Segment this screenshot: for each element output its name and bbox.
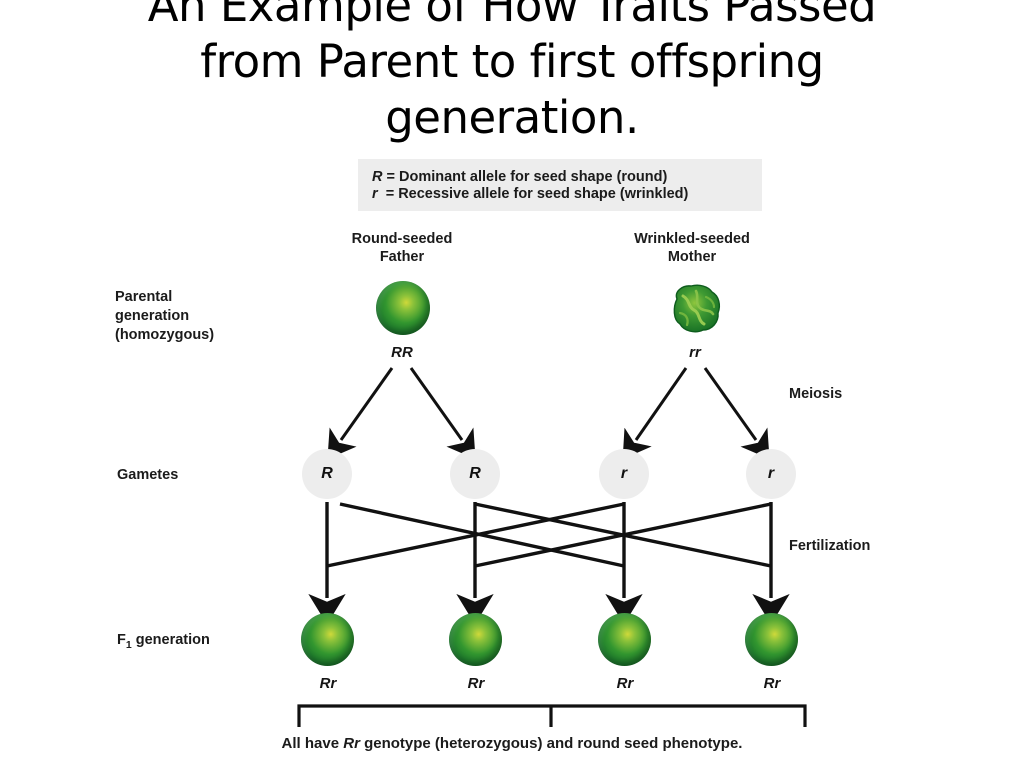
gamete-label-1: R (302, 449, 352, 499)
f1-letter: F (117, 632, 126, 648)
round-seed-offspring-2 (449, 613, 502, 666)
wrinkled-seed-mother (668, 283, 724, 335)
row-label-gametes: Gametes (117, 466, 178, 485)
summary-prefix: All have (282, 735, 344, 752)
row-label-parental-generation: Parental generation (homozygous) (115, 288, 214, 345)
legend-symbol-R: R (372, 169, 382, 185)
gamete-label-4: r (746, 449, 796, 499)
round-seed-offspring-4 (745, 613, 798, 666)
legend-line-recessive: r = Recessive allele for seed shape (wri… (372, 186, 688, 203)
genotype-offspring-3: Rr (590, 675, 660, 692)
genetics-cross-diagram: R = Dominant allele for seed shape (roun… (0, 0, 1024, 768)
side-label-fertilization: Fertilization (789, 538, 870, 554)
genotype-offspring-4: Rr (737, 675, 807, 692)
meiosis-arrow-mother-right (705, 368, 756, 440)
meiosis-arrow-father-right (411, 368, 462, 440)
allele-legend: R = Dominant allele for seed shape (roun… (358, 159, 762, 211)
summary-bracket (299, 706, 805, 727)
summary-suffix: genotype (heterozygous) and round seed p… (360, 735, 743, 752)
legend-text-dominant: = Dominant allele for seed shape (round) (382, 169, 667, 185)
gamete-label-2: R (450, 449, 500, 499)
round-seed-offspring-3 (598, 613, 651, 666)
parent-caption-father: Round-seeded Father (312, 230, 492, 266)
legend-line-dominant: R = Dominant allele for seed shape (roun… (372, 169, 667, 186)
side-label-meiosis: Meiosis (789, 386, 842, 402)
row-label-f1-generation: F1 generation (117, 631, 210, 655)
parent-caption-mother: Wrinkled-seeded Mother (602, 230, 782, 266)
round-seed-offspring-1 (301, 613, 354, 666)
meiosis-arrow-father-left (341, 368, 392, 440)
legend-text-recessive: = Recessive allele for seed shape (wrink… (378, 186, 689, 202)
gamete-label-3: r (599, 449, 649, 499)
genotype-offspring-1: Rr (293, 675, 363, 692)
summary-genotype: Rr (343, 735, 360, 752)
genotype-mother: rr (655, 344, 735, 361)
genotype-offspring-2: Rr (441, 675, 511, 692)
f1-rest: generation (132, 632, 210, 648)
round-seed-father (376, 281, 430, 335)
summary-caption: All have Rr genotype (heterozygous) and … (0, 735, 1024, 752)
meiosis-arrow-mother-left (636, 368, 686, 440)
genotype-father: RR (362, 344, 442, 361)
